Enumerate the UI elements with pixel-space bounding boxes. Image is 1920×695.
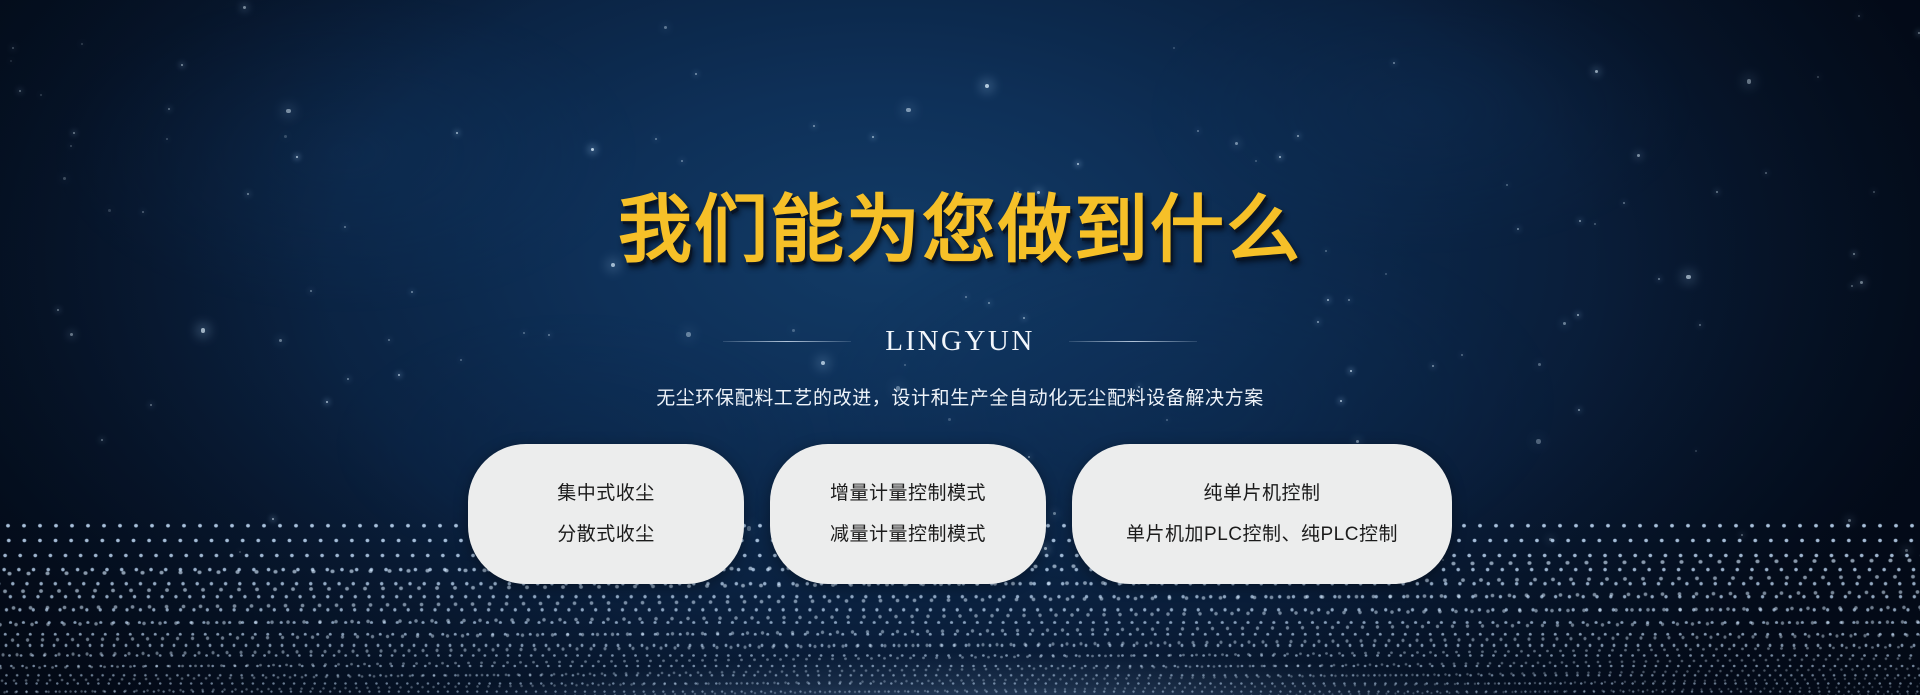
banner-description: 无尘环保配料工艺的改进，设计和生产全自动化无尘配料设备解决方案 (0, 383, 1920, 410)
feature-pill-dust-collection[interactable]: 集中式收尘 分散式收尘 (468, 444, 744, 584)
pill-line: 增量计量控制模式 (830, 484, 986, 503)
feature-pill-group: 集中式收尘 分散式收尘 增量计量控制模式 减量计量控制模式 纯单片机控制 单片机… (0, 444, 1920, 584)
pill-line: 减量计量控制模式 (830, 525, 986, 544)
pill-line: 集中式收尘 (557, 484, 655, 503)
hero-banner: 我们能为您做到什么 LINGYUN 无尘环保配料工艺的改进，设计和生产全自动化无… (0, 0, 1920, 695)
pill-line: 纯单片机控制 (1203, 484, 1320, 503)
feature-pill-metering-control-mode[interactable]: 增量计量控制模式 减量计量控制模式 (770, 444, 1046, 584)
feature-pill-controller-type[interactable]: 纯单片机控制 单片机加PLC控制、纯PLC控制 (1072, 444, 1452, 584)
brand-name: LINGYUN (885, 325, 1035, 358)
brand-subtitle-row: LINGYUN (0, 325, 1920, 358)
page-title: 我们能为您做到什么 (0, 188, 1920, 273)
rule-left-icon (723, 341, 851, 342)
pill-line: 单片机加PLC控制、纯PLC控制 (1126, 525, 1398, 544)
pill-line: 分散式收尘 (557, 525, 655, 544)
rule-right-icon (1069, 341, 1197, 342)
